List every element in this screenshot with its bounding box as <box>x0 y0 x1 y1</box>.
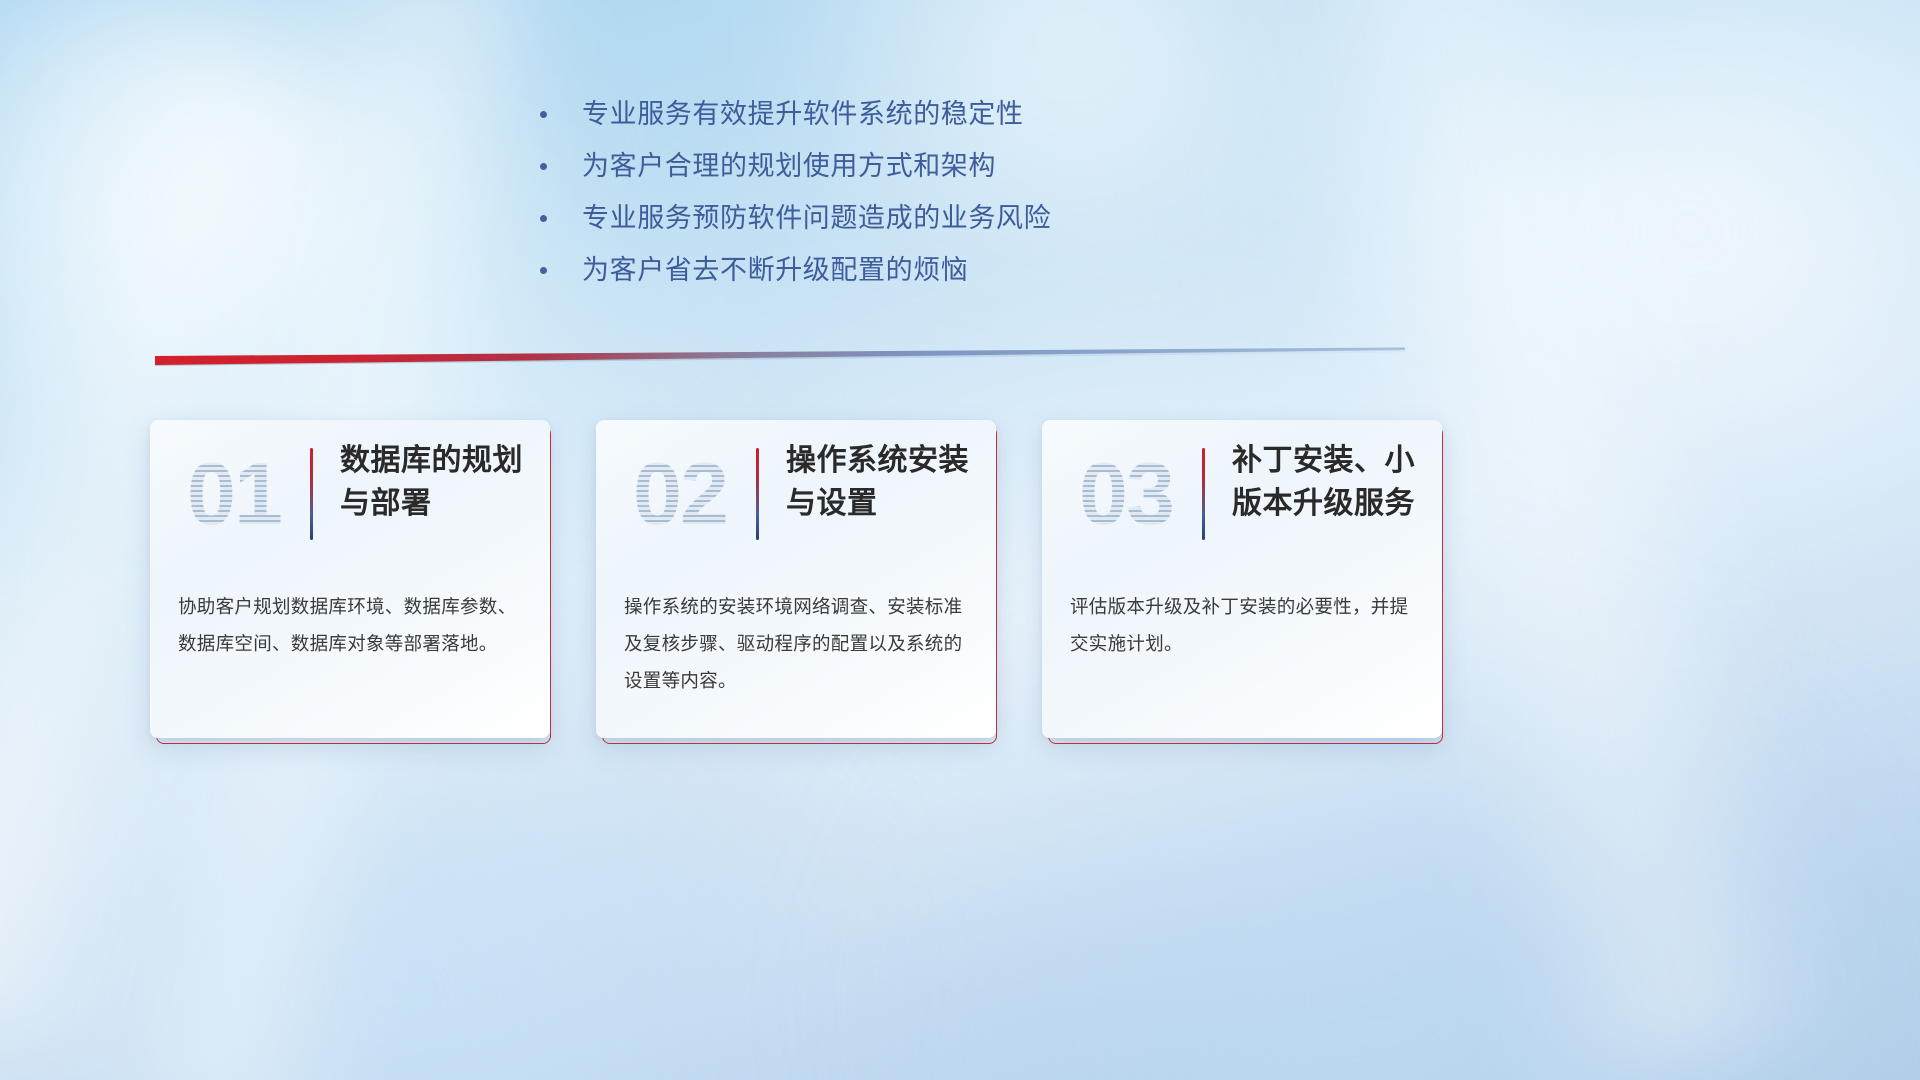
card-header: 02 02 操作系统安装 与设置 <box>596 420 996 572</box>
bullet-dot-icon <box>540 267 547 274</box>
bullet-dot-icon <box>540 215 547 222</box>
service-card-list: 01 01 数据库的规划 与部署 协助客户规划数据库环境、数据库参数、数据库空间… <box>150 420 1610 743</box>
bullet-dot-icon <box>540 111 547 118</box>
card-title-line-2: 版本升级服务 <box>1232 483 1428 526</box>
bullet-text: 专业服务有效提升软件系统的稳定性 <box>582 101 1024 128</box>
card-header: 03 03 补丁安装、小 版本升级服务 <box>1042 420 1442 572</box>
card-title-line-2: 与设置 <box>786 483 982 526</box>
service-card-01[interactable]: 01 01 数据库的规划 与部署 协助客户规划数据库环境、数据库参数、数据库空间… <box>150 420 550 743</box>
list-item: 专业服务预防软件问题造成的业务风险 <box>540 192 1340 244</box>
card-title: 数据库的规划 与部署 <box>340 440 536 525</box>
card-title: 操作系统安装 与设置 <box>786 440 982 525</box>
card-number: 02 <box>620 440 740 548</box>
card-number: 03 <box>1066 440 1186 548</box>
card-title-line-1: 数据库的规划 <box>340 440 536 483</box>
section-divider <box>155 344 1405 366</box>
bullet-text: 为客户省去不断升级配置的烦恼 <box>582 257 968 284</box>
service-card-02[interactable]: 02 02 操作系统安装 与设置 操作系统的安装环境网络调查、安装标准及复核步骤… <box>596 420 996 743</box>
slide-canvas: 专业服务有效提升软件系统的稳定性 为客户合理的规划使用方式和架构 专业服务预防软… <box>0 0 1920 1080</box>
card-title-line-1: 操作系统安装 <box>786 440 982 483</box>
card-title: 补丁安装、小 版本升级服务 <box>1232 440 1428 525</box>
bullet-dot-icon <box>540 163 547 170</box>
card-body-text: 协助客户规划数据库环境、数据库参数、数据库空间、数据库对象等部署落地。 <box>178 588 526 662</box>
card-title-accent-bar <box>756 448 759 540</box>
card-title-line-2: 与部署 <box>340 483 536 526</box>
feature-bullet-list: 专业服务有效提升软件系统的稳定性 为客户合理的规划使用方式和架构 专业服务预防软… <box>540 88 1340 296</box>
service-card-03[interactable]: 03 03 补丁安装、小 版本升级服务 评估版本升级及补丁安装的必要性，并提交实… <box>1042 420 1442 743</box>
card-body-text: 评估版本升级及补丁安装的必要性，并提交实施计划。 <box>1070 588 1418 662</box>
card-title-accent-bar <box>310 448 313 540</box>
card-body-text: 操作系统的安装环境网络调查、安装标准及复核步骤、驱动程序的配置以及系统的设置等内… <box>624 588 972 699</box>
bullet-text: 专业服务预防软件问题造成的业务风险 <box>582 205 1051 232</box>
list-item: 专业服务有效提升软件系统的稳定性 <box>540 88 1340 140</box>
card-surface: 02 02 操作系统安装 与设置 操作系统的安装环境网络调查、安装标准及复核步骤… <box>596 420 996 738</box>
card-surface: 01 01 数据库的规划 与部署 协助客户规划数据库环境、数据库参数、数据库空间… <box>150 420 550 738</box>
card-number: 01 <box>174 440 294 548</box>
card-surface: 03 03 补丁安装、小 版本升级服务 评估版本升级及补丁安装的必要性，并提交实… <box>1042 420 1442 738</box>
list-item: 为客户合理的规划使用方式和架构 <box>540 140 1340 192</box>
card-title-accent-bar <box>1202 448 1205 540</box>
card-header: 01 01 数据库的规划 与部署 <box>150 420 550 572</box>
card-title-line-1: 补丁安装、小 <box>1232 440 1428 483</box>
list-item: 为客户省去不断升级配置的烦恼 <box>540 244 1340 296</box>
bullet-text: 为客户合理的规划使用方式和架构 <box>582 153 996 180</box>
